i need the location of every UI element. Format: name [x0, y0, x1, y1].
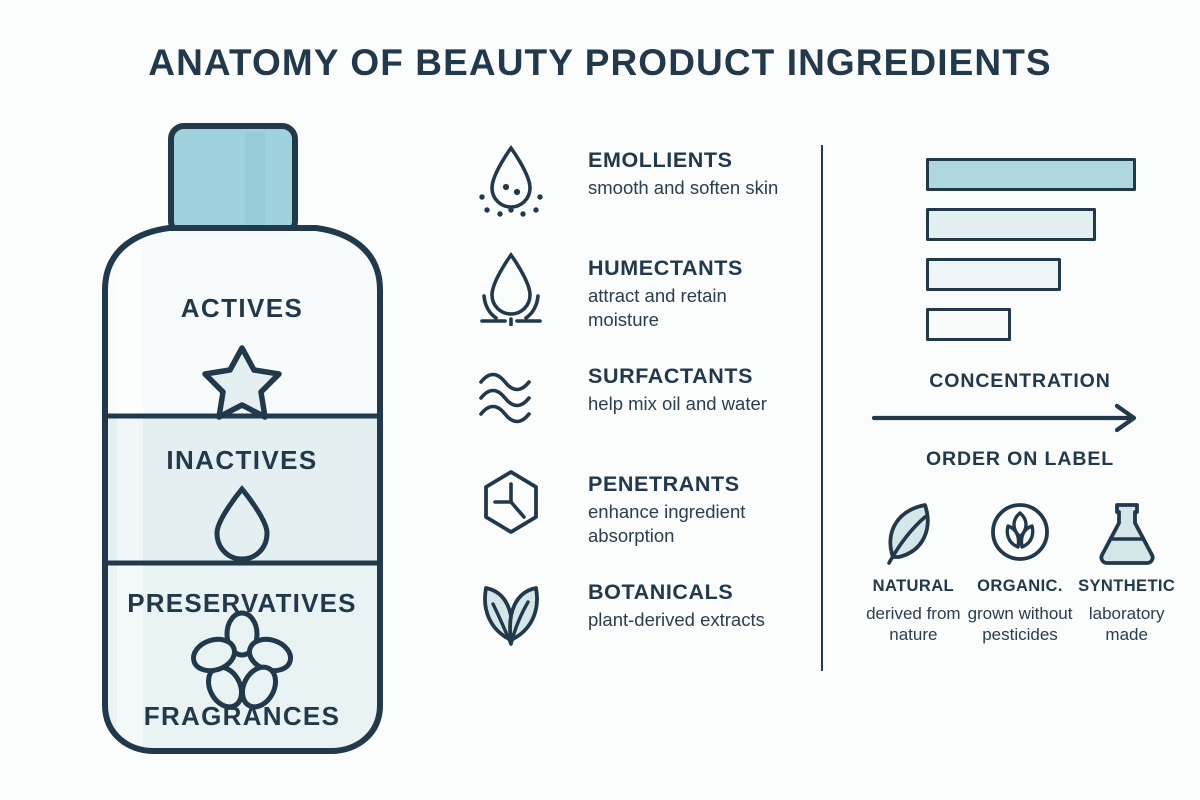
list-item-text: EMOLLIENTS smooth and soften skin — [588, 140, 810, 200]
badge-title: SYNTHETIC — [1073, 577, 1180, 596]
list-item-title: SURFACTANTS — [588, 364, 810, 389]
concentration-bar — [926, 258, 1061, 291]
list-item-text: BOTANICALS plant-derived extracts — [588, 572, 810, 632]
bottle-label-inactives: INACTIVES — [166, 445, 317, 475]
concentration-bar — [926, 208, 1096, 241]
page-title: ANATOMY OF BEAUTY PRODUCT INGREDIENTS — [0, 42, 1200, 84]
list-item-title: BOTANICALS — [588, 580, 810, 605]
hexagon-molecule-icon — [478, 468, 544, 544]
badge-desc: grown without pesticides — [967, 603, 1074, 646]
list-item-desc: enhance ingredient absorption — [588, 500, 793, 549]
droplet-with-particles-icon — [478, 142, 544, 218]
list-item-title: HUMECTANTS — [588, 256, 810, 281]
list-item: EMOLLIENTS smooth and soften skin — [470, 140, 810, 248]
concentration-label: CONCENTRATION — [860, 370, 1180, 393]
list-item-title: PENETRANTS — [588, 472, 810, 497]
infographic-canvas: ANATOMY OF BEAUTY PRODUCT INGREDIENTS — [0, 0, 1200, 800]
column-divider — [821, 145, 823, 671]
bottle-label-actives: ACTIVES — [181, 293, 303, 323]
badge-synthetic: SYNTHETIC laboratory made — [1073, 497, 1180, 646]
droplet-absorption-icon — [478, 250, 544, 326]
badge-desc: derived from nature — [860, 603, 967, 646]
badge-organic: ORGANIC. grown without pesticides — [967, 497, 1074, 646]
list-item-desc: attract and retain moisture — [588, 284, 793, 333]
list-item-text: HUMECTANTS attract and retain moisture — [588, 248, 810, 333]
bottle-label-fragrances: FRAGRANCES — [144, 701, 340, 731]
cap-highlight — [245, 132, 265, 228]
bottle-label-preservatives: PRESERVATIVES — [127, 588, 356, 618]
bottle-svg: ACTIVES INACTIVES PRESERVATIVES FRAGRANC… — [95, 120, 390, 760]
list-item-desc: smooth and soften skin — [588, 176, 793, 201]
two-leaves-icon — [478, 578, 544, 654]
flask-icon — [1073, 497, 1180, 571]
list-item: HUMECTANTS attract and retain moisture — [470, 248, 810, 356]
ingredient-list: EMOLLIENTS smooth and soften skin HUMECT… — [470, 140, 810, 680]
wavy-lines-icon — [478, 366, 544, 442]
ingredient-source-badges: NATURAL derived from nature ORGANIC. gro… — [860, 497, 1180, 646]
concentration-panel: CONCENTRATION ORDER ON LABEL NATURAL der… — [860, 145, 1180, 705]
order-on-label-label: ORDER ON LABEL — [860, 448, 1180, 471]
list-item: SURFACTANTS help mix oil and water — [470, 356, 810, 464]
list-item-desc: plant-derived extracts — [588, 608, 810, 633]
list-item-title: EMOLLIENTS — [588, 148, 810, 173]
list-item: PENETRANTS enhance ingredient absorption — [470, 464, 810, 572]
list-item-text: SURFACTANTS help mix oil and water — [588, 356, 810, 416]
concentration-bar — [926, 158, 1136, 191]
organic-circle-icon — [967, 497, 1074, 571]
body-highlight — [117, 228, 143, 748]
list-item: BOTANICALS plant-derived extracts — [470, 572, 810, 680]
leaf-icon — [860, 497, 967, 571]
badge-title: ORGANIC. — [967, 577, 1074, 596]
badge-title: NATURAL — [860, 577, 967, 596]
concentration-bar — [926, 308, 1011, 341]
list-item-desc: help mix oil and water — [588, 392, 793, 417]
badge-natural: NATURAL derived from nature — [860, 497, 967, 646]
right-arrow-icon — [868, 403, 1148, 433]
product-bottle: ACTIVES INACTIVES PRESERVATIVES FRAGRANC… — [95, 120, 390, 760]
badge-desc: laboratory made — [1073, 603, 1180, 646]
list-item-text: PENETRANTS enhance ingredient absorption — [588, 464, 810, 549]
bottle-cap — [171, 126, 295, 234]
